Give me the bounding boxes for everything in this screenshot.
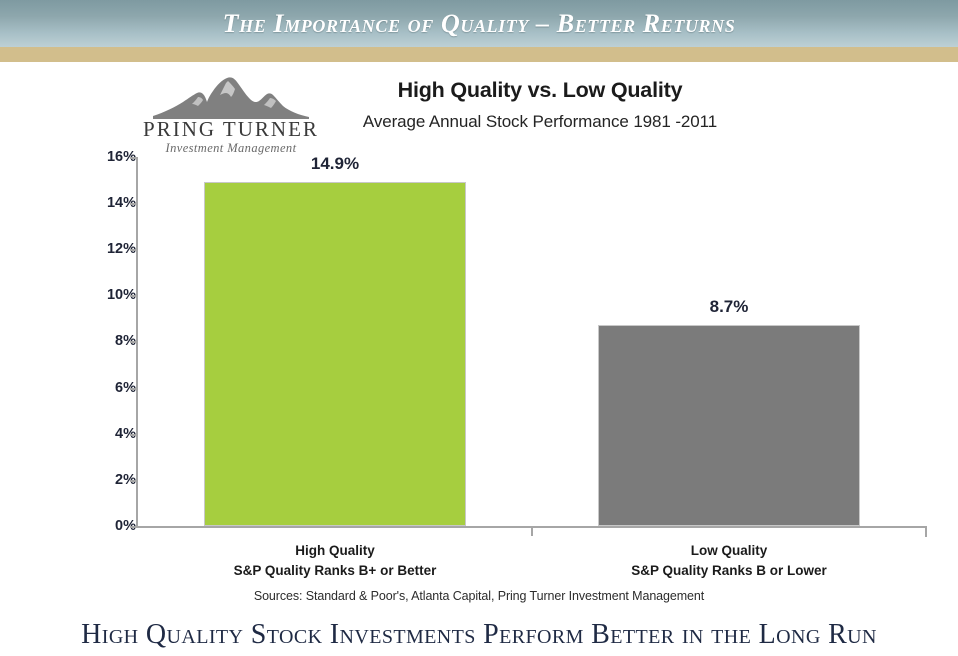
y-tick-label-10: 10% xyxy=(76,287,136,303)
chart-source-note: Sources: Standard & Poor's, Atlanta Capi… xyxy=(0,589,958,603)
y-tick-label-16: 16% xyxy=(76,149,136,165)
x-axis-end-tick xyxy=(925,528,927,537)
slide-header-banner: The Importance of Quality – Better Retur… xyxy=(0,0,958,47)
category-label-low-quality-line1: Low Quality xyxy=(579,541,879,561)
y-tick-mark-16 xyxy=(130,157,136,159)
bar-low-quality[interactable] xyxy=(598,325,860,526)
y-tick-mark-6 xyxy=(130,388,136,390)
y-tick-label-4: 4% xyxy=(76,426,136,442)
category-label-low-quality: Low Quality S&P Quality Ranks B or Lower xyxy=(579,541,879,582)
y-tick-label-2: 2% xyxy=(76,472,136,488)
y-tick-mark-14 xyxy=(130,203,136,205)
y-axis-line xyxy=(136,157,138,527)
slide-footer-caption: High Quality Stock Investments Perform B… xyxy=(0,614,958,656)
y-tick-mark-8 xyxy=(130,341,136,343)
slide-body: PRING TURNER Investment Management High … xyxy=(0,62,958,614)
y-tick-mark-4 xyxy=(130,434,136,436)
category-label-high-quality-line1: High Quality xyxy=(185,541,485,561)
y-tick-mark-12 xyxy=(130,249,136,251)
y-tick-label-8: 8% xyxy=(76,333,136,349)
slide-header-title: The Importance of Quality – Better Retur… xyxy=(223,9,736,39)
category-label-low-quality-line2: S&P Quality Ranks B or Lower xyxy=(579,561,879,581)
y-tick-mark-2 xyxy=(130,480,136,482)
bar-value-high-quality: 14.9% xyxy=(204,154,466,174)
y-tick-label-0: 0% xyxy=(76,518,136,534)
bar-value-low-quality: 8.7% xyxy=(598,297,860,317)
category-label-high-quality-line2: S&P Quality Ranks B+ or Better xyxy=(185,561,485,581)
category-label-high-quality: High Quality S&P Quality Ranks B+ or Bet… xyxy=(185,541,485,582)
y-tick-label-14: 14% xyxy=(76,195,136,211)
bar-high-quality[interactable] xyxy=(204,182,466,526)
y-tick-mark-0 xyxy=(130,526,136,528)
y-tick-label-12: 12% xyxy=(76,241,136,257)
chart-plot-area: 16% 14% 12% 10% 8% 6% 4% 2% xyxy=(0,62,958,614)
y-tick-label-6: 6% xyxy=(76,380,136,396)
header-accent-band xyxy=(0,47,958,62)
y-tick-mark-10 xyxy=(130,295,136,297)
x-axis-category-tick xyxy=(531,528,533,536)
